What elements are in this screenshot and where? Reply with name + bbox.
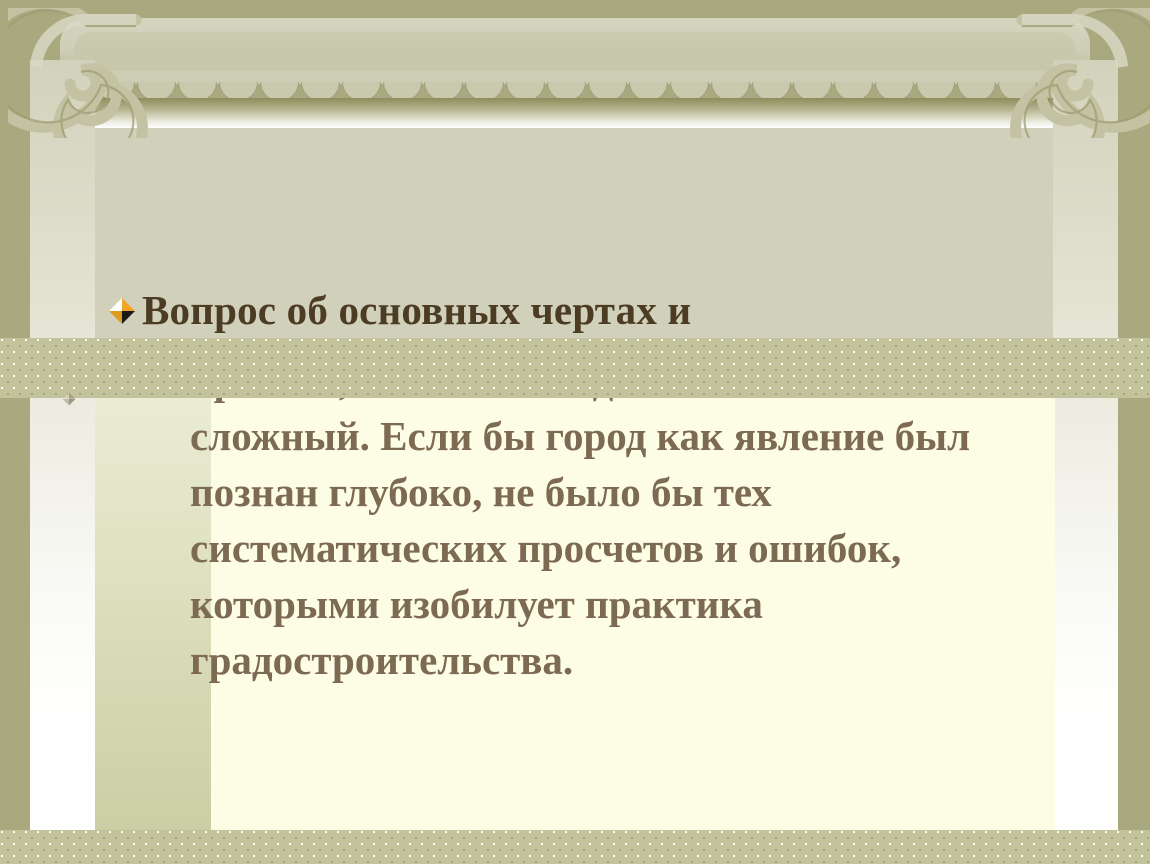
header-gradient-band bbox=[95, 98, 1055, 130]
diamond-bullet-icon bbox=[108, 297, 136, 325]
diamond-bullet-small-icon bbox=[62, 392, 76, 406]
presentation-slide: Вопрос об основных чертах и простой, но … bbox=[0, 0, 1150, 864]
ionic-volute-right-icon bbox=[1000, 8, 1150, 138]
ionic-volute-left-icon bbox=[8, 8, 158, 138]
body-paragraph: простой, но на самом деле необычайно сло… bbox=[190, 352, 1070, 688]
bottom-texture-band bbox=[0, 830, 1150, 864]
body-text-container: простой, но на самом деле необычайно сло… bbox=[190, 352, 1070, 752]
page-title: Вопрос об основных чертах и bbox=[142, 288, 1022, 334]
mid-texture-band bbox=[0, 338, 1150, 398]
left-column-shaft bbox=[30, 60, 95, 835]
